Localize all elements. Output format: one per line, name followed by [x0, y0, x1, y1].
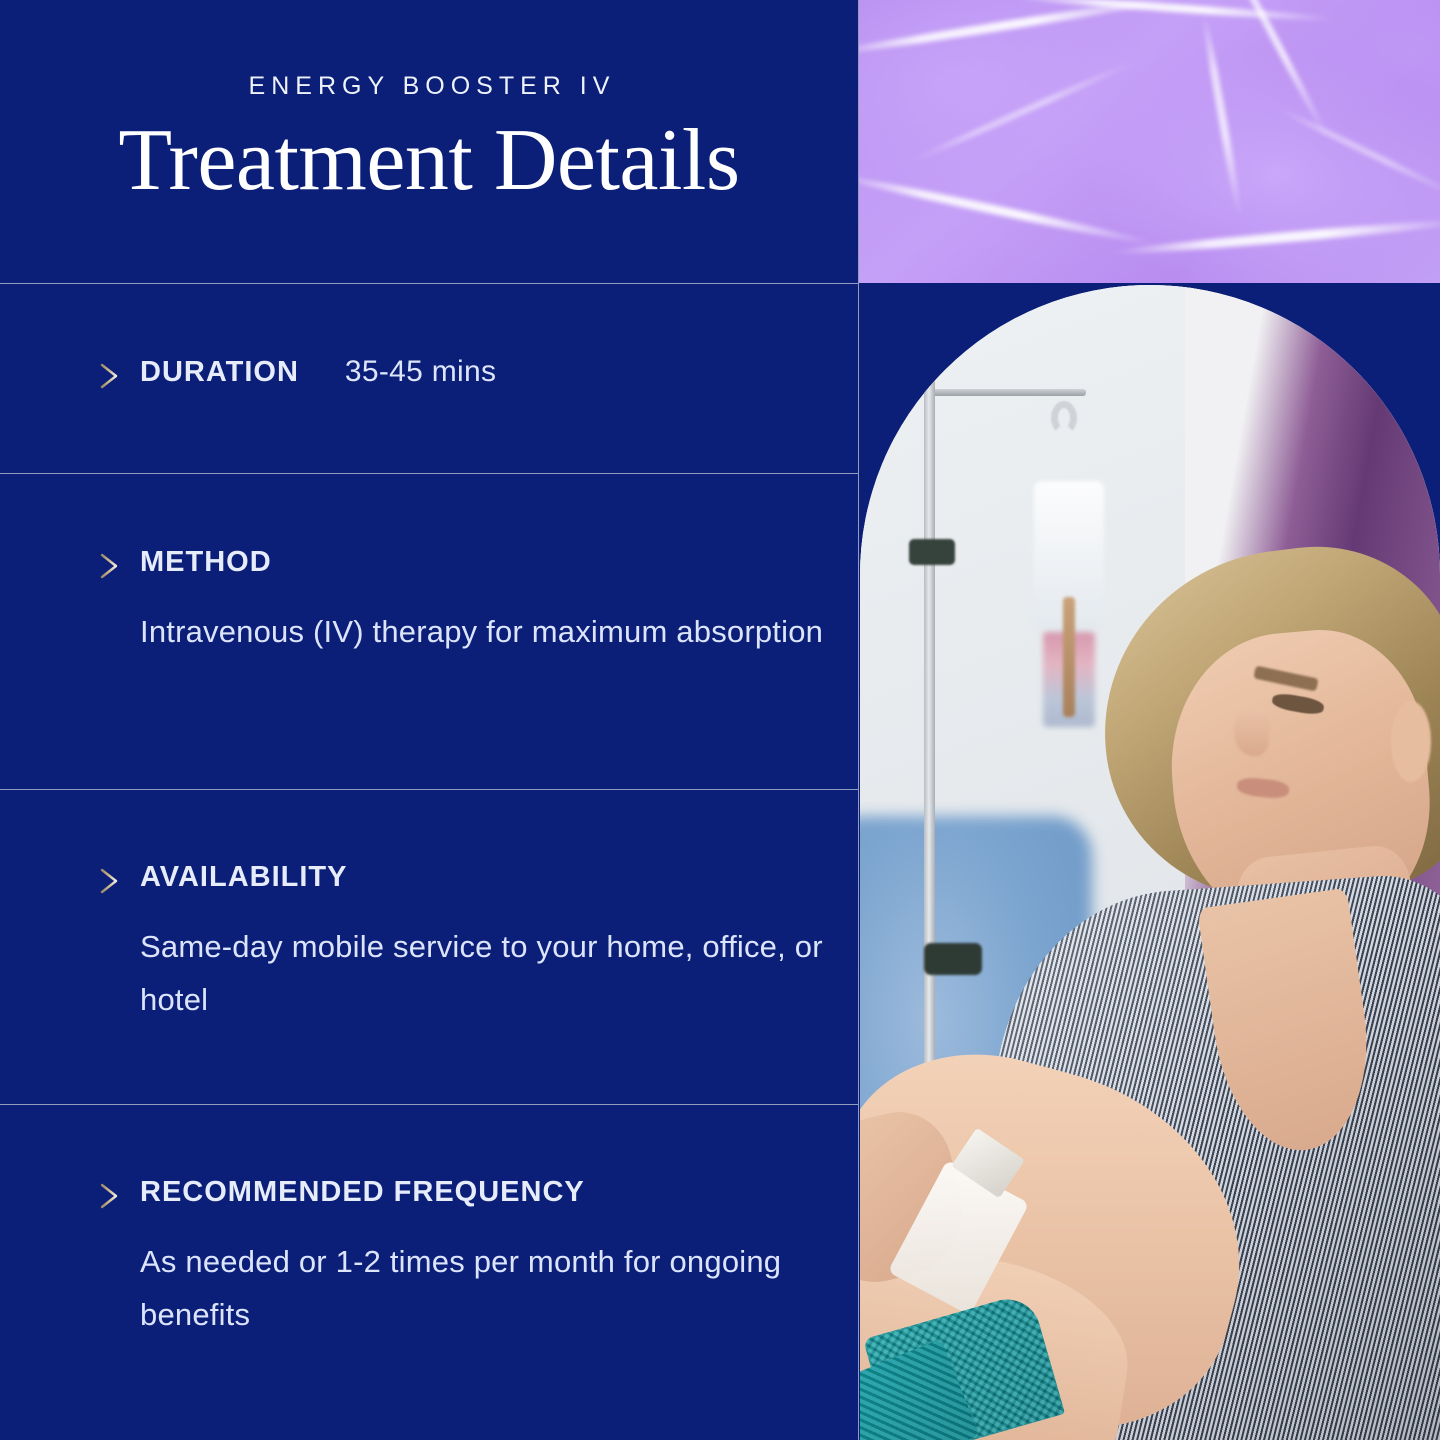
divider-4 — [0, 1104, 858, 1105]
divider-3 — [0, 789, 858, 790]
row-head: DURATION 35-45 mins — [68, 355, 858, 393]
iv-tube — [1063, 597, 1075, 717]
row-body-method: Intravenous (IV) therapy for maximum abs… — [140, 605, 840, 658]
page-title: Treatment Details — [0, 115, 858, 207]
row-head: AVAILABILITY — [68, 860, 858, 898]
row-label-recommended-frequency: RECOMMENDED FREQUENCY — [140, 1175, 585, 1209]
patient-photo-panel — [859, 284, 1440, 1440]
iv-clamp-lower — [924, 943, 982, 975]
arrow-right-icon — [68, 549, 140, 583]
arrow-right-icon — [68, 1179, 140, 1213]
patient-ear — [1391, 701, 1432, 782]
arrow-right-icon — [68, 359, 140, 393]
row-head: METHOD — [68, 545, 858, 583]
row-body-availability: Same-day mobile service to your home, of… — [140, 920, 840, 1027]
divider-2 — [0, 473, 858, 474]
row-label-duration: DURATION — [140, 355, 299, 389]
left-content-column: ENERGY BOOSTER IV Treatment Details — [0, 0, 858, 1440]
arch-photo — [860, 285, 1440, 1440]
row-body-recommended-frequency: As needed or 1-2 times per month for ong… — [140, 1235, 858, 1342]
arrow-right-icon — [68, 864, 140, 898]
info-row-duration: DURATION 35-45 mins — [0, 355, 858, 393]
right-media-column — [859, 0, 1440, 1440]
patient-nose — [1234, 710, 1269, 756]
header-block: ENERGY BOOSTER IV Treatment Details — [0, 0, 858, 283]
vertical-divider — [858, 0, 859, 1440]
info-row-recommended-frequency: RECOMMENDED FREQUENCY As needed or 1-2 t… — [0, 1175, 858, 1342]
infographic-card: ENERGY BOOSTER IV Treatment Details — [0, 0, 1440, 1440]
row-value-duration: 35-45 mins — [345, 355, 496, 389]
iv-pole-arm — [924, 389, 1086, 396]
row-label-method: METHOD — [140, 545, 272, 579]
info-row-method: METHOD Intravenous (IV) therapy for maxi… — [0, 545, 858, 658]
texture-image — [859, 0, 1440, 283]
eyebrow-label: ENERGY BOOSTER IV — [0, 72, 858, 101]
iv-clamp-upper — [909, 539, 955, 565]
divider-1 — [0, 283, 858, 284]
row-head: RECOMMENDED FREQUENCY — [68, 1175, 858, 1213]
info-row-availability: AVAILABILITY Same-day mobile service to … — [0, 860, 858, 1027]
iv-hook-icon — [1051, 401, 1077, 435]
row-label-availability: AVAILABILITY — [140, 860, 347, 894]
